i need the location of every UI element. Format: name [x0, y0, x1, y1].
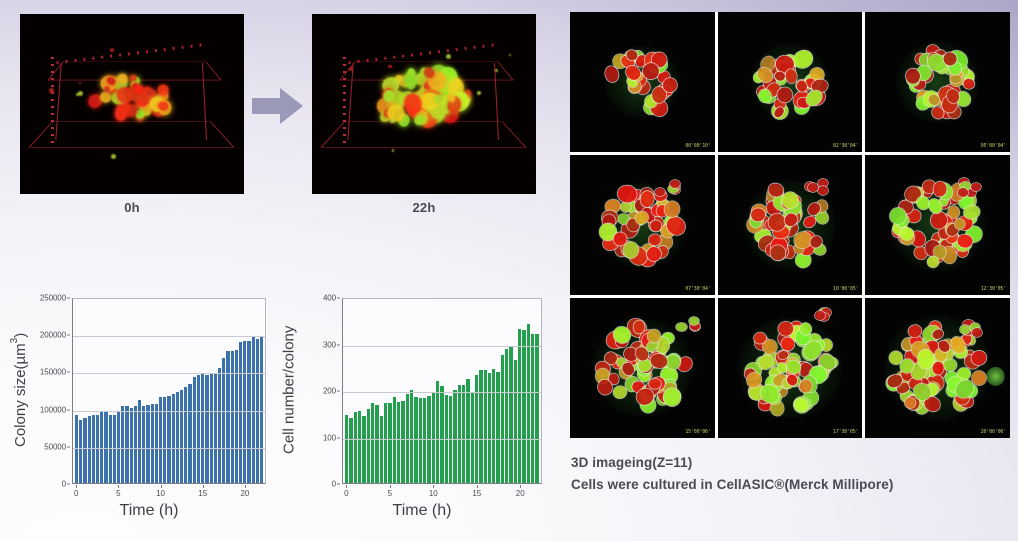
arrow-right-icon: [252, 86, 304, 126]
colony-size-x-ticks: 05101520: [72, 485, 266, 501]
chart-bar: [130, 408, 133, 483]
grid-line: [343, 439, 541, 440]
chart-bar: [380, 416, 383, 483]
colony-size-x-axis-text: Time (h): [120, 502, 179, 519]
chart-bar: [92, 415, 95, 483]
chart-bar: [146, 405, 149, 483]
chart-bar: [410, 390, 413, 483]
colony-size-plot: [72, 298, 266, 484]
chart-bar: [488, 373, 491, 483]
tile-timestamp: 02'30'04': [833, 143, 858, 149]
render-label-0h: 0h: [20, 200, 244, 215]
fluorescent-speck: [147, 89, 153, 95]
x-tick-mark: [118, 485, 119, 488]
chart-bar: [479, 370, 482, 483]
chart-bar: [514, 360, 517, 483]
chart-bar: [222, 358, 225, 483]
fluorescent-speck: [390, 119, 395, 124]
x-tick-label: 0: [74, 489, 78, 498]
microscopy-tile: 17'30'05': [718, 298, 863, 438]
cell-number-x-ticks: 05101520: [342, 485, 542, 501]
fluorescent-speck: [392, 149, 395, 152]
satellite-cell: [808, 183, 818, 191]
y-tick-label: 300: [323, 340, 336, 349]
y-tick-label: 100000: [40, 405, 66, 414]
chart-bar: [436, 381, 439, 483]
chart-bar: [358, 411, 361, 483]
satellite-cell: [958, 188, 968, 196]
tile-timestamp: 00'00'10': [685, 143, 710, 149]
chart-bar: [176, 392, 179, 483]
chart-bar: [458, 385, 461, 483]
chart-bar: [354, 412, 357, 483]
chart-bar: [155, 404, 158, 483]
microscopy-tile: 12'30'05': [865, 155, 1010, 295]
fluorescent-speck: [349, 67, 353, 71]
x-tick-label: 20: [240, 489, 249, 498]
grid-line: [73, 448, 265, 449]
chart-bar: [453, 390, 456, 483]
satellite-cell: [972, 328, 982, 336]
x-tick-mark: [161, 485, 162, 488]
microscopy-tile: 00'00'10': [570, 12, 715, 152]
fluorescent-speck: [446, 54, 451, 59]
y-tick-mark: [67, 446, 70, 447]
colony-size-x-axis-label: Time (h): [30, 502, 268, 520]
cell-number-y-axis-label: Cell number/colony: [278, 296, 300, 484]
fluorescent-speck: [49, 88, 54, 93]
satellite-cell: [670, 180, 680, 188]
tile-timestamp: 10'00'05': [833, 286, 858, 292]
y-tick-mark: [337, 391, 340, 392]
caption: 3D imageing(Z=11) Cells were cultured in…: [571, 452, 1011, 496]
fluorescent-speck: [477, 91, 481, 95]
chart-bar: [371, 403, 374, 483]
chart-bar: [419, 398, 422, 483]
x-tick-mark: [390, 485, 391, 488]
y-tick-mark: [337, 437, 340, 438]
fluorescent-speck: [79, 82, 81, 84]
chart-bar: [388, 403, 391, 483]
chart-bar: [484, 370, 487, 483]
colony-size-y-ticks: 050000100000150000200000250000: [30, 298, 70, 484]
cell-number-chart: Cell number/colony 0100200300400 0510152…: [276, 296, 544, 532]
chart-bar: [522, 330, 525, 483]
x-tick-mark: [203, 485, 204, 488]
microscopy-tile: 15'00'06': [570, 298, 715, 438]
y-tick-label: 0: [62, 480, 66, 489]
caption-line-2: Cells were cultured in CellASIC®(Merck M…: [571, 474, 1011, 496]
y-tick-label: 200000: [40, 331, 66, 340]
chart-bar: [193, 377, 196, 483]
colony-size-y-axis-label: Colony size(µm3): [8, 296, 30, 484]
cell-number-y-ticks: 0100200300400: [300, 298, 340, 484]
satellite-cell: [818, 186, 828, 194]
render-image-0h: [20, 14, 244, 194]
grid-line: [73, 373, 265, 374]
chart-bar: [401, 401, 404, 483]
chart-bar: [88, 416, 91, 483]
chart-bar: [235, 350, 238, 483]
chart-bar: [384, 403, 387, 483]
fluorescent-speck: [495, 69, 499, 73]
chart-bar: [214, 373, 217, 483]
chart-bar: [231, 351, 234, 483]
chart-bar: [180, 390, 183, 483]
render-image-22h: [312, 14, 536, 194]
chart-bar: [362, 416, 365, 483]
y-tick-label: 50000: [44, 442, 66, 451]
chart-bar: [226, 351, 229, 483]
y-tick-label: 150000: [40, 368, 66, 377]
colony-size-bars: [75, 299, 263, 483]
satellite-cell: [815, 311, 825, 319]
chart-bar: [138, 400, 141, 483]
chart-bar: [239, 342, 242, 483]
satellite-cell: [960, 325, 970, 333]
y-tick-label: 100: [323, 433, 336, 442]
chart-bar: [125, 406, 128, 483]
caption-line-1: 3D imageing(Z=11): [571, 452, 1011, 474]
cell-number-x-axis-text: Time (h): [393, 502, 452, 519]
chart-bar: [414, 397, 417, 483]
grid-line: [343, 392, 541, 393]
x-tick-mark: [76, 485, 77, 488]
chart-bar: [466, 379, 469, 483]
chart-bar: [527, 324, 530, 483]
chart-bar: [201, 373, 204, 483]
render-scene-22h: [312, 14, 536, 194]
satellite-cell: [676, 323, 686, 331]
fluorescent-speck: [111, 154, 116, 159]
chart-bar: [121, 406, 124, 483]
microscopy-image-grid: 00'00'10'02'30'04'05'00'04'07'30'04'10'0…: [570, 12, 1010, 438]
x-tick-label: 10: [156, 489, 165, 498]
chart-bar: [197, 375, 200, 483]
chart-bar: [423, 398, 426, 483]
cell-number-bars: [345, 299, 539, 483]
colony-blob-22h: [312, 14, 536, 194]
chart-bar: [167, 396, 170, 483]
cell-marker: [927, 256, 939, 268]
chart-bar: [375, 405, 378, 483]
chart-bar: [462, 385, 465, 483]
cell-number-plot-area: 0100200300400: [300, 298, 542, 484]
slide-canvas: 0h 22h Colony size(µm3) 0500001000001500…: [0, 0, 1018, 541]
grid-line: [73, 336, 265, 337]
chart-bar: [345, 415, 348, 483]
chart-bar: [427, 396, 430, 483]
chart-bar: [496, 372, 499, 483]
y-tick-mark: [337, 484, 340, 485]
microscopy-tile: 07'30'04': [570, 155, 715, 295]
tile-timestamp: 17'30'05': [833, 429, 858, 435]
x-tick-mark: [520, 485, 521, 488]
fluorescent-speck: [110, 48, 114, 52]
chart-bar: [501, 355, 504, 483]
x-tick-label: 0: [344, 489, 348, 498]
y-tick-mark: [67, 409, 70, 410]
y-tick-mark: [337, 344, 340, 345]
chart-bar: [509, 347, 512, 483]
chart-bar: [393, 397, 396, 483]
x-tick-label: 15: [198, 489, 207, 498]
y-tick-mark: [67, 335, 70, 336]
chart-bar: [210, 373, 213, 483]
chart-bar: [188, 384, 191, 483]
microscopy-tile: 02'30'04': [718, 12, 863, 152]
x-tick-mark: [346, 485, 347, 488]
colony-size-chart: Colony size(µm3) 05000010000015000020000…: [6, 296, 268, 532]
cell-marker: [663, 388, 681, 407]
x-tick-mark: [477, 485, 478, 488]
chart-bar: [184, 387, 187, 483]
chart-bar: [172, 394, 175, 483]
x-tick-label: 5: [116, 489, 120, 498]
chart-bar: [151, 404, 154, 483]
chart-bar: [247, 341, 250, 483]
render-label-22h: 22h: [312, 200, 536, 215]
fluorescent-speck: [388, 65, 392, 69]
colony-size-plot-area: 050000100000150000200000250000: [30, 298, 266, 484]
chart-bar: [505, 349, 508, 483]
x-tick-mark: [245, 485, 246, 488]
fluorescent-cell: [117, 73, 127, 84]
microscopy-tile: 10'00'05': [718, 155, 863, 295]
chart-bar: [492, 369, 495, 483]
y-tick-label: 0: [332, 480, 336, 489]
y-tick-label: 200: [323, 387, 336, 396]
y-tick-label: 250000: [40, 294, 66, 303]
fluorescent-speck: [509, 54, 511, 56]
render-scene-0h: [20, 14, 244, 194]
tile-timestamp: 07'30'04': [685, 286, 710, 292]
tile-timestamp: 20'00'06': [981, 429, 1006, 435]
chart-bar: [243, 341, 246, 483]
tile-timestamp: 05'00'04': [981, 143, 1006, 149]
chart-bar: [531, 334, 534, 484]
y-tick-label: 400: [323, 294, 336, 303]
chart-bar: [349, 418, 352, 483]
x-tick-label: 15: [472, 489, 481, 498]
y-tick-mark: [67, 372, 70, 373]
y-tick-mark: [67, 298, 70, 299]
x-tick-label: 5: [388, 489, 392, 498]
x-tick-mark: [433, 485, 434, 488]
tile-timestamp: 12'30'05': [981, 286, 1006, 292]
chart-bar: [134, 406, 137, 483]
chart-bar: [83, 418, 86, 484]
grid-line: [343, 346, 541, 347]
x-tick-label: 10: [429, 489, 438, 498]
chart-bar: [205, 375, 208, 483]
chart-bar: [535, 334, 538, 484]
chart-bar: [79, 420, 82, 483]
colony-blob-0h: [20, 14, 244, 194]
chart-bar: [75, 415, 78, 483]
grid-line: [73, 411, 265, 412]
microscopy-tile: 20'00'06': [865, 298, 1010, 438]
tile-timestamp: 15'00'06': [685, 429, 710, 435]
cell-marker: [956, 233, 972, 247]
microscopy-tile: 05'00'04': [865, 12, 1010, 152]
x-tick-label: 20: [516, 489, 525, 498]
chart-bar: [518, 329, 521, 483]
cell-number-x-axis-label: Time (h): [300, 502, 544, 520]
chart-bar: [142, 406, 145, 483]
chart-bar: [367, 409, 370, 483]
satellite-cell: [986, 367, 1005, 385]
y-tick-mark: [337, 298, 340, 299]
chart-bar: [397, 402, 400, 483]
cell-number-plot: [342, 298, 542, 484]
y-tick-mark: [67, 484, 70, 485]
cell-number-y-axis-text: Cell number/colony: [281, 326, 298, 454]
chart-bar: [440, 386, 443, 483]
chart-bar: [218, 368, 221, 483]
satellite-cell: [971, 183, 981, 191]
